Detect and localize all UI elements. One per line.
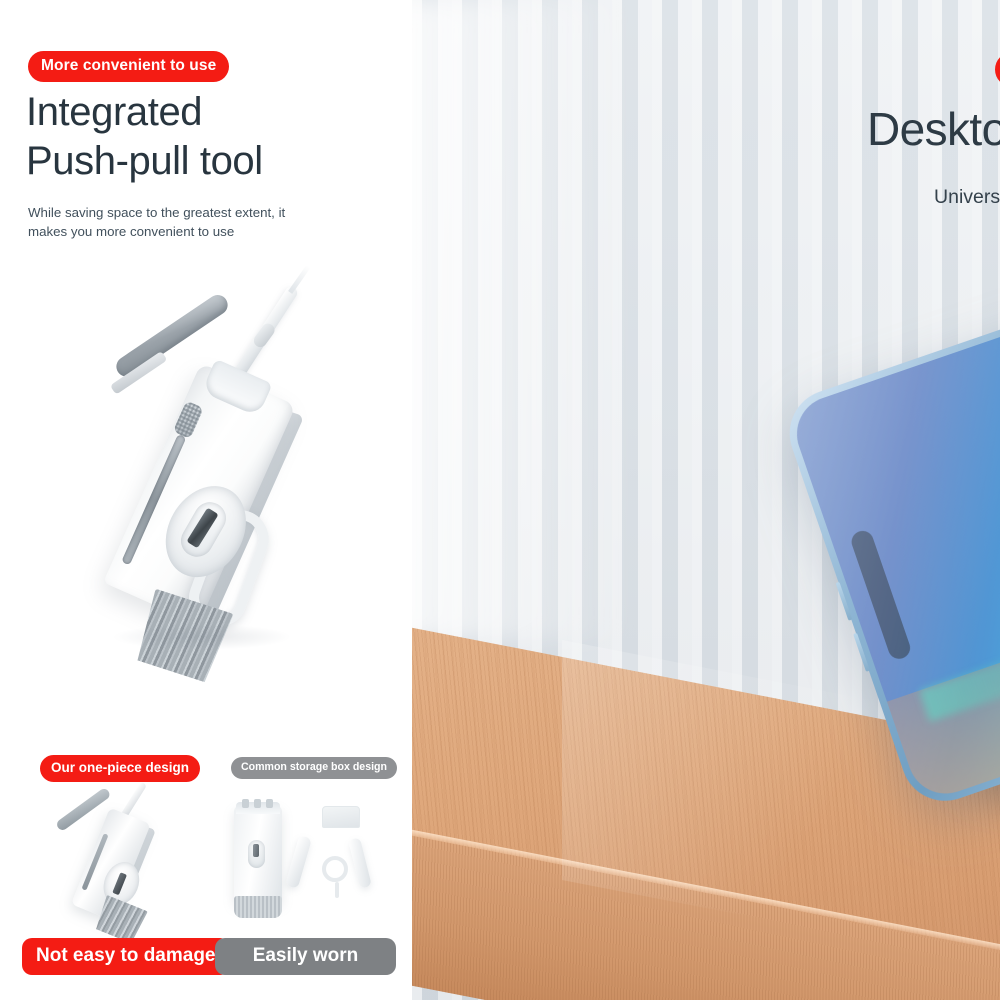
storage-box-brush-foot bbox=[234, 896, 282, 918]
background-glow bbox=[412, 0, 632, 640]
comparison-product-one-piece bbox=[30, 785, 210, 930]
loose-part-stick-2 bbox=[348, 837, 372, 888]
storage-box-notch-3 bbox=[266, 799, 273, 808]
screen-floor-reflection bbox=[887, 517, 1000, 804]
right-top-badge: Eight in one function bbox=[995, 52, 1000, 87]
comparison-product-storage-box bbox=[228, 788, 403, 930]
right-subtitle: Universal mobile phones, not just cleani… bbox=[890, 186, 1000, 209]
left-headline-line2: Push-pull tool bbox=[26, 137, 406, 186]
hero-drop-shadow bbox=[112, 624, 292, 650]
left-top-badge: More convenient to use bbox=[28, 51, 229, 82]
comparison-badge-common: Common storage box design bbox=[231, 757, 397, 779]
hero-tool-group bbox=[0, 236, 412, 723]
storage-box-nib bbox=[253, 844, 259, 857]
comparison-result-common: Easily worn bbox=[215, 938, 396, 975]
pen-nub bbox=[251, 321, 277, 350]
right-panel: Eight in one function Desktop bracket de… bbox=[412, 0, 1000, 1000]
right-headline: Desktop bracket design bbox=[867, 102, 1000, 156]
left-subtitle: While saving space to the greatest exten… bbox=[28, 203, 328, 242]
left-panel: More convenient to use Integrated Push-p… bbox=[0, 0, 412, 1000]
left-headline-line1: Integrated bbox=[26, 90, 202, 134]
comparison-result-ours: Not easy to damage bbox=[22, 938, 230, 975]
product-marketing-image: More convenient to use Integrated Push-p… bbox=[0, 0, 1000, 1000]
storage-box-notch-1 bbox=[242, 799, 249, 808]
hero-cleaning-tool-image bbox=[58, 280, 358, 680]
comparison-a-group bbox=[9, 757, 230, 959]
loose-part-ring bbox=[322, 856, 348, 882]
left-headline: Integrated Push-pull tool bbox=[26, 88, 406, 186]
loose-part-lid bbox=[322, 806, 360, 828]
storage-box-notch-2 bbox=[254, 799, 261, 808]
loose-part-stick-1 bbox=[285, 835, 312, 889]
